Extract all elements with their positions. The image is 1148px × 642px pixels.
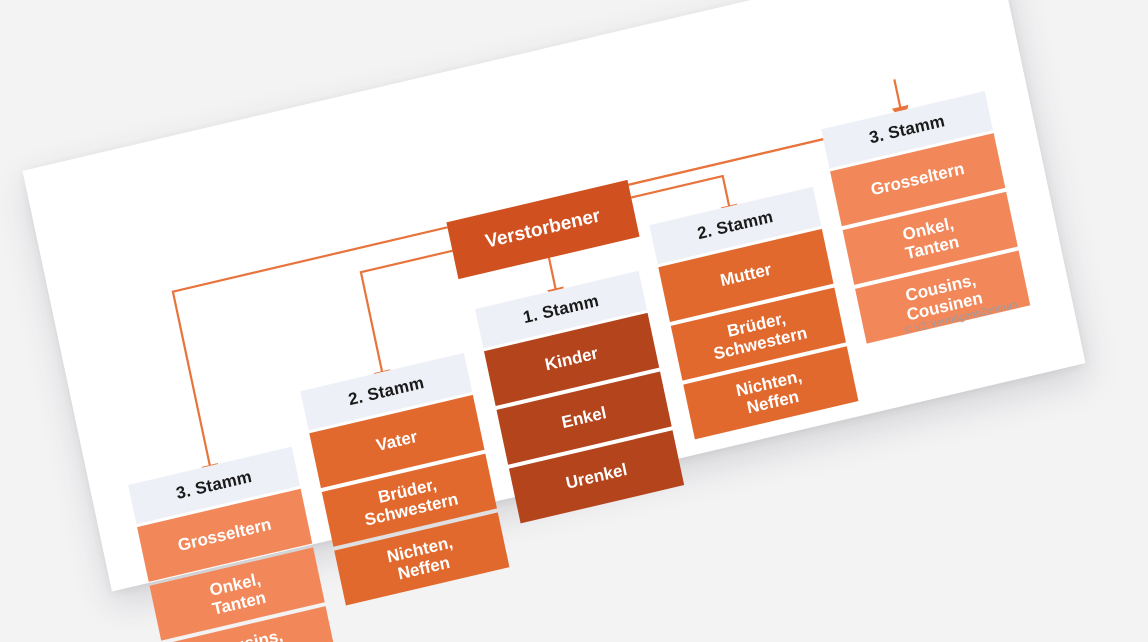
- column-stamm1[interactable]: 1. Stamm Kinder Enkel Urenkel: [475, 271, 685, 528]
- diagram-card: Verstorbener 3. Stamm Grosseltern Onkel,…: [22, 0, 1085, 592]
- diagram-stage: Verstorbener 3. Stamm Grosseltern Onkel,…: [0, 0, 1148, 642]
- column-cells-stamm2-left: Vater Brüder,Schwestern Nichten,Neffen: [309, 392, 510, 605]
- diagram-card-inner: Verstorbener 3. Stamm Grosseltern Onkel,…: [22, 0, 1085, 592]
- deceased-box[interactable]: Verstorbener: [446, 180, 639, 279]
- column-stamm2-left[interactable]: 2. Stamm Vater Brüder,Schwestern Nichten…: [300, 353, 510, 610]
- column-stamm2-right[interactable]: 2. Stamm Mutter Brüder,Schwestern Nichte…: [649, 187, 859, 444]
- column-cells-stamm1: Kinder Enkel Urenkel: [483, 310, 684, 523]
- column-stamm3-left[interactable]: 3. Stamm Grosseltern Onkel,Tanten Cousin…: [128, 447, 338, 642]
- deceased-label: Verstorbener: [484, 205, 603, 253]
- column-cells-stamm2-right: Mutter Brüder,Schwestern Nichten,Neffen: [658, 226, 859, 439]
